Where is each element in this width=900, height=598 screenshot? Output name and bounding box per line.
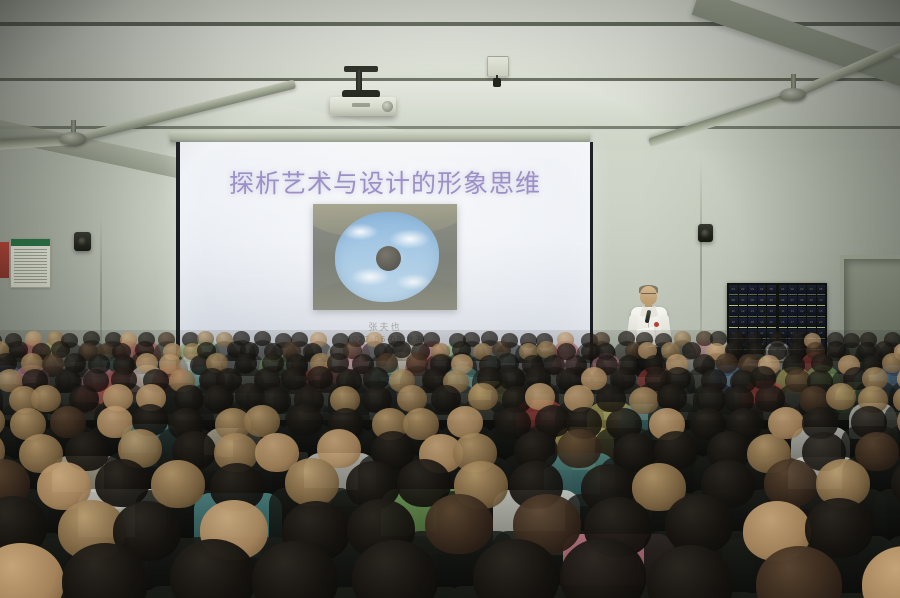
audience-member-head bbox=[95, 459, 149, 507]
number-board-cell: 19 bbox=[807, 318, 816, 328]
wall-notice-board bbox=[10, 238, 51, 288]
camera-icon bbox=[493, 78, 501, 87]
audience-member-head bbox=[557, 429, 601, 468]
audience-member-head bbox=[764, 459, 818, 507]
number-board-cell: 07 bbox=[739, 296, 748, 306]
number-board-cell: 03 bbox=[748, 285, 757, 295]
number-board-cell: 08 bbox=[748, 296, 757, 306]
ceiling-camera-box bbox=[487, 56, 509, 77]
notice-board-header bbox=[11, 239, 50, 246]
projector-lens bbox=[382, 101, 393, 112]
number-board-cell: 02 bbox=[788, 285, 797, 295]
speaker-cone-icon bbox=[78, 237, 87, 246]
number-board-cell: 03 bbox=[798, 285, 807, 295]
number-board-cell: 19 bbox=[758, 318, 767, 328]
fan-hub bbox=[780, 88, 806, 101]
pupil bbox=[376, 246, 401, 271]
speaker-cone-icon bbox=[701, 229, 710, 238]
number-board-cell: 06 bbox=[729, 296, 738, 306]
wall-speaker-left bbox=[74, 232, 91, 251]
number-board-cell: 05 bbox=[817, 285, 826, 295]
number-board-cell: 11 bbox=[779, 307, 788, 317]
number-board-cell: 18 bbox=[748, 318, 757, 328]
seated-audience bbox=[0, 330, 900, 598]
number-board-cell: 20 bbox=[767, 318, 776, 328]
projector-mount-arm bbox=[356, 70, 362, 92]
audience-member-head bbox=[287, 404, 323, 436]
number-board-cell: 10 bbox=[767, 296, 776, 306]
number-board-cell: 04 bbox=[758, 285, 767, 295]
number-board-cell: 14 bbox=[758, 307, 767, 317]
number-board-cell: 01 bbox=[779, 285, 788, 295]
slide-eye-sky-image bbox=[313, 204, 457, 310]
number-board-cell: 14 bbox=[807, 307, 816, 317]
number-board-cell: 20 bbox=[817, 318, 826, 328]
screen-roller-casing bbox=[170, 131, 590, 142]
number-board-cell: 07 bbox=[788, 296, 797, 306]
number-board-cell: 09 bbox=[807, 296, 816, 306]
audience-member-head bbox=[244, 405, 280, 437]
audience-member-head bbox=[285, 458, 339, 506]
audience-member-head bbox=[657, 384, 687, 411]
fan-hub bbox=[60, 132, 86, 145]
number-board-cell: 12 bbox=[739, 307, 748, 317]
glasses-icon bbox=[641, 293, 656, 297]
number-board-cell: 09 bbox=[758, 296, 767, 306]
number-board-cell: 17 bbox=[739, 318, 748, 328]
notice-board-text-lines bbox=[11, 246, 50, 283]
audience-member-head bbox=[843, 333, 860, 348]
number-board-cell: 01 bbox=[729, 285, 738, 295]
number-board-cell: 12 bbox=[788, 307, 797, 317]
number-board-cell: 10 bbox=[817, 296, 826, 306]
number-board-cell: 13 bbox=[748, 307, 757, 317]
audience-member-head bbox=[468, 383, 498, 410]
number-board-cell: 02 bbox=[739, 285, 748, 295]
number-board-cell: 15 bbox=[817, 307, 826, 317]
projector-brand-label bbox=[352, 103, 370, 107]
number-board-cell: 06 bbox=[779, 296, 788, 306]
number-board-cell: 16 bbox=[729, 318, 738, 328]
number-board-cell: 17 bbox=[788, 318, 797, 328]
number-board-cell: 08 bbox=[798, 296, 807, 306]
number-board-cell: 13 bbox=[798, 307, 807, 317]
number-board-cell: 18 bbox=[798, 318, 807, 328]
presenter-badge bbox=[654, 322, 659, 327]
lecture-hall-photo: 0102030405060708091011121314151617181920… bbox=[0, 0, 900, 598]
number-board-cell: 11 bbox=[729, 307, 738, 317]
audience-member-head bbox=[826, 383, 856, 410]
wall-speaker-right bbox=[698, 224, 713, 242]
number-board-cell: 15 bbox=[767, 307, 776, 317]
audience-member-head bbox=[151, 460, 205, 508]
number-board-cell: 16 bbox=[779, 318, 788, 328]
number-board-cell: 05 bbox=[767, 285, 776, 295]
slide-title: 探析艺术与设计的形象思维 bbox=[180, 164, 590, 200]
audience-member-head bbox=[425, 494, 493, 554]
number-board-cell: 04 bbox=[807, 285, 816, 295]
wall-poster-red bbox=[0, 242, 9, 278]
